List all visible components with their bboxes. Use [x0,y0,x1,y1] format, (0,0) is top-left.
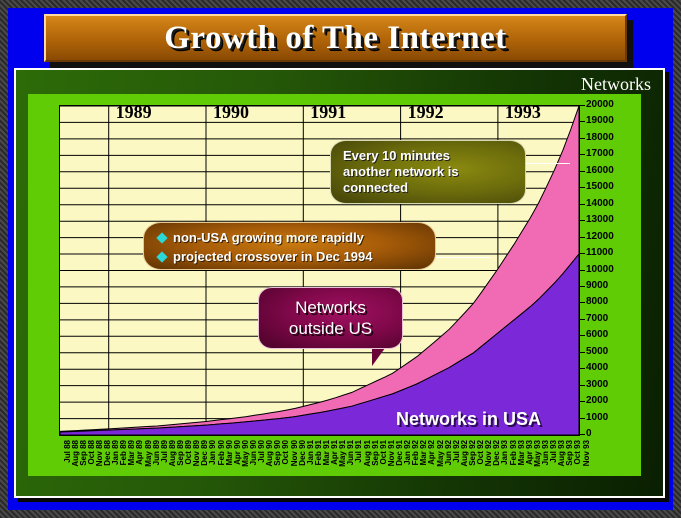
page-title: Growth of The Internet [164,20,507,57]
bullet-text-1: non-USA growing more rapidly [173,228,364,247]
bullet-text-2: projected crossover in Dec 1994 [173,247,372,266]
y-axis-tick-mark [580,204,585,205]
y-axis-tick-mark [580,335,585,336]
y-axis-tick-mark [580,385,585,386]
y-axis-tick-mark [580,220,585,221]
y-axis-tick-label: 14000 [586,199,614,209]
y-axis-tick-mark [580,105,585,106]
callout-networks-outside-us[interactable]: Networks outside US [258,287,403,349]
y-axis-tick-label: 9000 [586,281,608,291]
leader-line-ten-minutes [522,163,570,164]
y-axis-tick-label: 18000 [586,133,614,143]
year-label: 1990 [213,102,249,123]
y-axis-tick-label: 7000 [586,314,608,324]
y-axis-tick-label: 16000 [586,166,614,176]
callout-outside-line-1: Networks [295,297,366,318]
x-axis-labels: Jul 88Aug 88Sep 88Oct 88Nov 88Dec 88Jan … [59,440,580,486]
bullet-item-2: projected crossover in Dec 1994 [158,247,425,266]
y-axis-tick-label: 2000 [586,396,608,406]
y-axis-tick-mark [580,418,585,419]
y-axis-tick-label: 0 [586,429,592,439]
y-axis-tick-label: 20000 [586,100,614,110]
y-axis-tick-mark [580,253,585,254]
slide-canvas: Growth of The Internet Networks 19891990… [0,0,681,518]
y-axis-tick-mark [580,434,585,435]
y-axis-tick-label: 15000 [586,182,614,192]
y-axis-tick-mark [580,121,585,122]
x-axis-tick-label: Nov 93 [582,440,591,484]
y-axis-tick-mark [580,187,585,188]
callout-growth-bullets[interactable]: non-USA growing more rapidly projected c… [143,222,436,270]
y-axis-tick-mark [580,171,585,172]
y-axis-tick-mark [580,154,585,155]
y-axis-tick-label: 11000 [586,248,613,258]
diamond-bullet-icon [156,251,167,262]
year-label: 1993 [505,102,541,123]
callout-line-1: Every 10 minutes [343,148,513,164]
y-axis-tick-label: 6000 [586,330,608,340]
y-axis-tick-mark [580,138,585,139]
callout-line-2: another network is [343,164,513,180]
y-axis-tick-mark [580,237,585,238]
series-label-networks-in-usa: Networks in USA [396,409,541,430]
callout-outside-line-2: outside US [289,318,372,339]
y-axis-tick-label: 3000 [586,380,608,390]
y-axis-tick-mark [580,270,585,271]
y-axis-tick-mark [580,302,585,303]
y-axis-tick-label: 13000 [586,215,614,225]
callout-line-3: connected [343,180,513,196]
y-axis-tick-label: 8000 [586,297,608,307]
callout-ten-minutes[interactable]: Every 10 minutes another network is conn… [330,140,526,204]
y-axis-tick-label: 17000 [586,149,614,159]
y-axis-tick-label: 1000 [586,413,608,423]
year-label: 1991 [310,102,346,123]
y-axis-tick-label: 10000 [586,265,614,275]
y-axis-tick-mark [580,352,585,353]
y-axis-tick-label: 12000 [586,232,614,242]
year-label: 1989 [116,102,152,123]
year-label: 1992 [408,102,444,123]
title-banner: Growth of The Internet [44,14,627,62]
y-axis-tick-mark [580,286,585,287]
leader-line-bullets [432,257,490,258]
y-axis-tick-mark [580,401,585,402]
diamond-bullet-icon [156,232,167,243]
bullet-item-1: non-USA growing more rapidly [158,228,425,247]
y-axis-tick-mark [580,368,585,369]
y-axis-tick-mark [580,319,585,320]
y-axis-tick-label: 5000 [586,347,608,357]
y-axis-tick-label: 4000 [586,363,608,373]
chart-axis-title-networks: Networks [581,74,651,95]
y-axis-tick-label: 19000 [586,116,614,126]
